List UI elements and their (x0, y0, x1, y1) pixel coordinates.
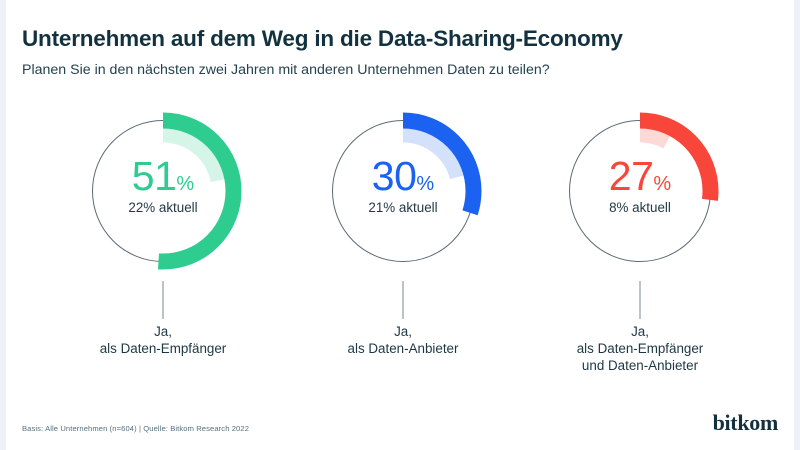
donut-connector-line-2 (403, 281, 404, 319)
donut-chart-row: 51% 22% aktuell Ja, als Daten-Empfänger (0, 105, 800, 395)
donut-chart-3 (554, 105, 726, 277)
donut-category-label-3: Ja, als Daten-Empfänger und Daten-Anbiet… (515, 323, 765, 374)
category-label-line-1a: Ja, (38, 323, 288, 340)
donut-svg-3 (554, 105, 726, 277)
bitkom-logo: bitkom (713, 410, 778, 436)
page-title: Unternehmen auf dem Weg in die Data-Shar… (22, 26, 623, 52)
donut-svg-2 (317, 105, 489, 277)
category-label-line-3a: Ja, (515, 323, 765, 340)
page-subtitle: Planen Sie in den nächsten zwei Jahren m… (22, 62, 550, 78)
source-note: Basis: Alle Unternehmen (n=604) | Quelle… (22, 424, 249, 433)
donut-connector-line-1 (163, 281, 164, 319)
infographic-page: Unternehmen auf dem Weg in die Data-Shar… (0, 0, 800, 450)
category-label-line-2b: als Daten-Anbieter (278, 340, 528, 357)
donut-inner-arc-current-1 (107, 135, 219, 247)
category-label-line-2a: Ja, (278, 323, 528, 340)
category-label-line-3c: und Daten-Anbieter (515, 357, 765, 374)
donut-group-daten-anbieter: 30% 21% aktuell Ja, als Daten-Anbieter (278, 105, 528, 395)
donut-category-label-1: Ja, als Daten-Empfänger (38, 323, 288, 357)
donut-inner-arc-current-3 (584, 135, 696, 247)
donut-chart-1 (77, 105, 249, 277)
donut-category-label-2: Ja, als Daten-Anbieter (278, 323, 528, 357)
donut-inner-arc-current-2 (347, 135, 459, 247)
category-label-line-1b: als Daten-Empfänger (38, 340, 288, 357)
donut-connector-line-3 (640, 281, 641, 319)
donut-group-empfaenger-und-anbieter: 27% 8% aktuell Ja, als Daten-Empfänger u… (515, 105, 765, 395)
donut-group-daten-empfaenger: 51% 22% aktuell Ja, als Daten-Empfänger (38, 105, 288, 395)
donut-chart-2 (317, 105, 489, 277)
category-label-line-3b: als Daten-Empfänger (515, 340, 765, 357)
donut-svg-1 (77, 105, 249, 277)
